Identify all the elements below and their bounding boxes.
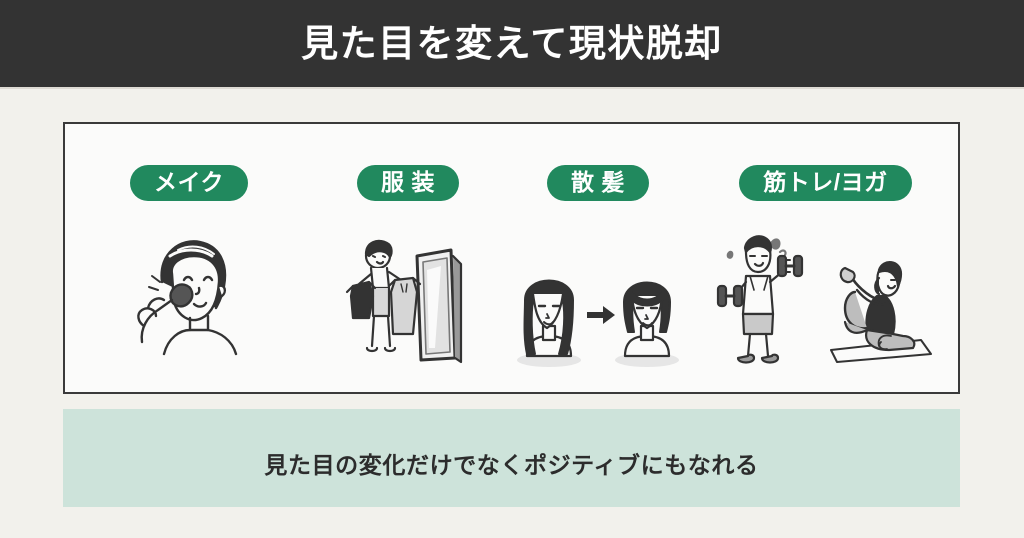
transform-arrow-icon <box>587 306 615 324</box>
conclusion-text: 見た目の変化だけでなくポジティブにもなれる <box>264 454 758 477</box>
dumbbell-training-illustration-icon <box>710 228 815 370</box>
category-slot-makeup: メイク <box>65 165 313 201</box>
illustration-row <box>65 220 958 370</box>
page-title: 見た目を変えて現状脱却 <box>301 25 723 62</box>
methods-panel: メイク 服 装 散 髪 筋トレ/ヨガ <box>63 122 960 394</box>
illustration-slot-workout <box>693 220 958 370</box>
header-bar: 見た目を変えて現状脱却 <box>0 0 1024 89</box>
haircut-after <box>615 283 679 368</box>
category-pill-clothing[interactable]: 服 装 <box>357 165 459 201</box>
illustration-slot-haircut <box>503 220 693 370</box>
category-pill-row: メイク 服 装 散 髪 筋トレ/ヨガ <box>65 164 958 202</box>
haircut-before-after-illustration-icon <box>513 260 683 370</box>
category-pill-haircut[interactable]: 散 髪 <box>547 165 649 201</box>
illustration-slot-clothing <box>313 220 503 370</box>
category-pill-makeup[interactable]: メイク <box>130 165 248 201</box>
makeup-illustration-icon <box>124 230 254 370</box>
category-slot-workout: 筋トレ/ヨガ <box>693 165 958 201</box>
haircut-before <box>517 281 581 368</box>
yoga-pose-illustration-icon <box>821 250 941 370</box>
illustration-slot-makeup <box>65 220 313 370</box>
category-slot-haircut: 散 髪 <box>503 165 693 201</box>
category-pill-workout[interactable]: 筋トレ/ヨガ <box>739 165 911 201</box>
category-slot-clothing: 服 装 <box>313 165 503 201</box>
conclusion-banner: 見た目の変化だけでなくポジティブにもなれる <box>63 409 960 507</box>
clothing-mirror-illustration-icon <box>343 230 473 370</box>
